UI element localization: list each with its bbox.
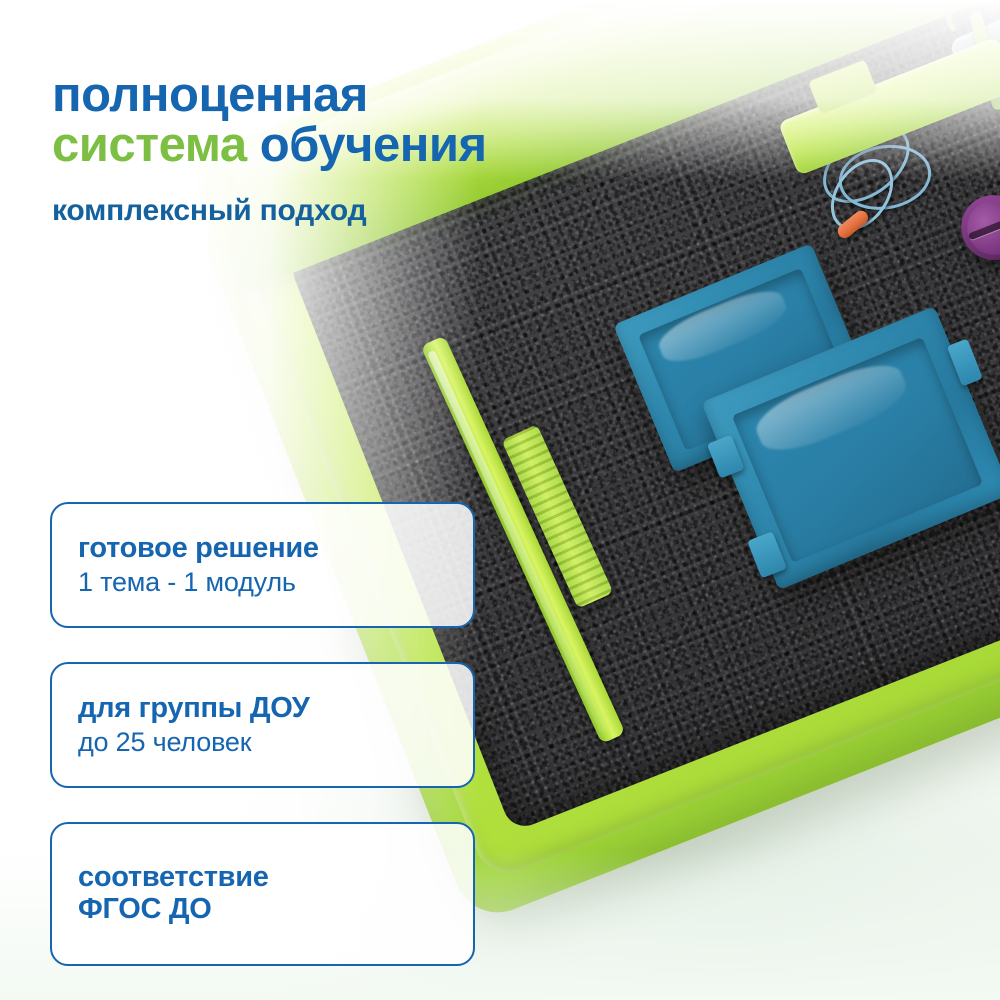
- page-subtitle: комплексный подход: [52, 194, 366, 228]
- feature-subtitle: 1 тема - 1 модуль: [78, 566, 473, 599]
- feature-title: готовое решение: [78, 531, 473, 565]
- feature-card-group-size[interactable]: для группы ДОУ до 25 человек: [50, 662, 475, 788]
- feature-subtitle: ФГОС ДО: [78, 894, 473, 926]
- feature-card-standards-compliance[interactable]: соответствие ФГОС ДО: [50, 822, 475, 966]
- feature-card-ready-solution[interactable]: готовое решение 1 тема - 1 модуль: [50, 502, 475, 628]
- feature-subtitle: до 25 человек: [78, 726, 473, 759]
- feature-title: для группы ДОУ: [78, 691, 473, 725]
- headline-line-1: полноценная: [52, 70, 692, 120]
- poster-canvas: полноценная система обучения комплексный…: [0, 0, 1000, 1000]
- headline-word-green: система: [52, 118, 247, 172]
- content-layer: полноценная система обучения комплексный…: [0, 0, 1000, 1000]
- page-title: полноценная система обучения: [52, 70, 692, 171]
- feature-title: соответствие: [78, 862, 473, 894]
- headline-word-blue: обучения: [260, 118, 487, 172]
- headline-line-2: система обучения: [52, 120, 692, 170]
